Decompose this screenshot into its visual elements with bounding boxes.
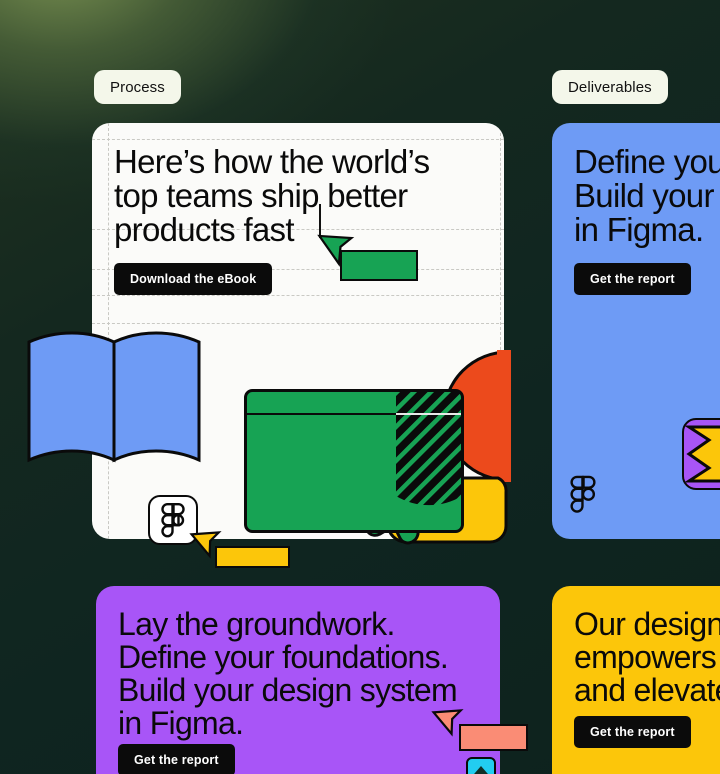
card-foundations-heading: Lay the groundwork. Define your foundati… bbox=[118, 608, 457, 740]
card-design-system[interactable]: Our design empowers and elevate Get the … bbox=[552, 586, 720, 774]
pill-process[interactable]: Process bbox=[94, 70, 181, 104]
card-process-heading: Here’s how the world’s top teams ship be… bbox=[114, 145, 429, 247]
yellow-cursor-icon bbox=[196, 522, 224, 556]
pill-process-label: Process bbox=[110, 79, 165, 96]
cyan-badge bbox=[466, 757, 496, 774]
card-deliverables-heading: Define you Build your in Figma. bbox=[574, 145, 720, 247]
book-illustration bbox=[26, 328, 206, 474]
figma-logo-mark bbox=[570, 475, 596, 513]
text-caret bbox=[319, 204, 321, 238]
green-window-shape bbox=[244, 389, 464, 533]
card-design-system-heading: Our design empowers and elevate bbox=[574, 608, 720, 707]
download-ebook-button[interactable]: Download the eBook bbox=[114, 263, 272, 295]
star-badge bbox=[682, 418, 720, 490]
canvas-stage: Process Deliverables Here’s how the worl… bbox=[0, 0, 720, 774]
pill-deliverables[interactable]: Deliverables bbox=[552, 70, 668, 104]
salmon-label-tag bbox=[459, 724, 528, 751]
figma-badge[interactable] bbox=[148, 495, 198, 545]
green-cursor-icon bbox=[325, 224, 355, 262]
card-foundations[interactable]: Lay the groundwork. Define your foundati… bbox=[96, 586, 500, 774]
figma-icon bbox=[161, 503, 185, 537]
pill-deliverables-label: Deliverables bbox=[568, 79, 652, 96]
get-report-button-blue[interactable]: Get the report bbox=[574, 263, 691, 295]
yellow-label-tag bbox=[215, 546, 290, 568]
get-report-button-yellow[interactable]: Get the report bbox=[574, 716, 691, 748]
salmon-cursor-icon bbox=[438, 700, 466, 734]
get-report-button-purple[interactable]: Get the report bbox=[118, 744, 235, 774]
